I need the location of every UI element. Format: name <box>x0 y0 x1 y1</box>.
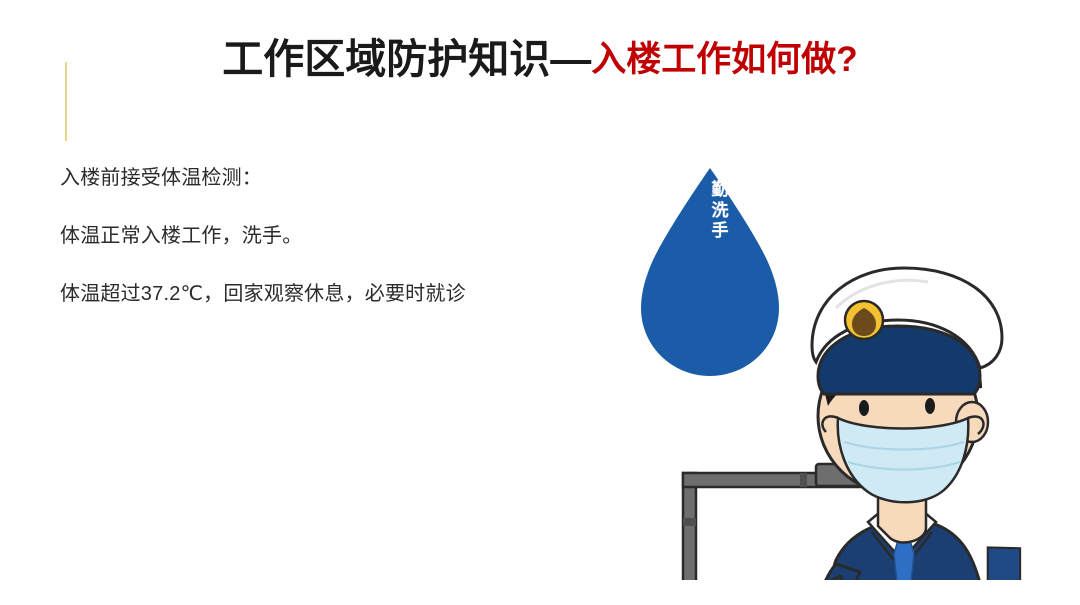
page-title-dash: — <box>550 36 591 82</box>
body-line-3: 体温超过37.2℃，回家观察休息，必要时就诊 <box>60 284 620 304</box>
cap-badge-icon <box>845 301 883 339</box>
body-line-2: 体温正常入楼工作，洗手。 <box>60 226 620 246</box>
officer-washing-hands-illustration <box>640 140 1080 580</box>
page-title: 工作区域防护知识—入楼工作如何做? <box>0 36 1080 83</box>
water-droplet-icon <box>641 168 779 376</box>
body-line-1: 入楼前接受体温检测： <box>60 168 620 188</box>
slide-canvas: 工作区域防护知识—入楼工作如何做? 入楼前接受体温检测： 体温正常入楼工作，洗手… <box>0 0 1080 605</box>
body-text-block: 入楼前接受体温检测： 体温正常入楼工作，洗手。 体温超过37.2℃，回家观察休息… <box>60 168 620 304</box>
page-title-accent: 入楼工作如何做? <box>591 40 857 79</box>
page-title-main: 工作区域防护知识 <box>222 36 550 82</box>
